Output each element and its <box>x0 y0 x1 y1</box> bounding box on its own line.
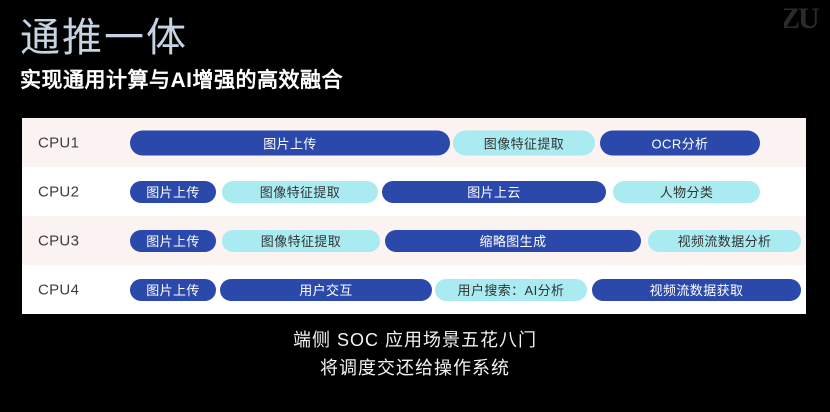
page-subtitle: 实现通用计算与AI增强的高效融合 <box>20 68 343 94</box>
task-bar[interactable]: 视频流数据获取 <box>592 279 801 301</box>
task-bar[interactable]: 图像特征提取 <box>222 230 380 252</box>
cpu-row: CPU4图片上传用户交互用户搜索：AI分析视频流数据获取 <box>22 265 806 314</box>
task-bar[interactable]: 缩略图生成 <box>385 230 641 252</box>
task-bar[interactable]: 图片上传 <box>130 130 450 155</box>
caption-block: 端侧 SOC 应用场景五花八门将调度交还给操作系统 <box>0 326 830 382</box>
corner-watermark: ZU <box>784 2 830 36</box>
page-title: 通推一体 <box>20 14 343 62</box>
cpu-row-track: 图片上传用户交互用户搜索：AI分析视频流数据获取 <box>22 265 806 314</box>
task-bar[interactable]: 视频流数据分析 <box>648 230 801 252</box>
cpu-row: CPU2图片上传图像特征提取图片上云人物分类 <box>22 167 806 216</box>
cpu-row: CPU3图片上传图像特征提取缩略图生成视频流数据分析 <box>22 216 806 265</box>
cpu-schedule-diagram: CPU1图片上传图像特征提取OCR分析CPU2图片上传图像特征提取图片上云人物分… <box>22 118 806 314</box>
task-bar[interactable]: 图片上云 <box>382 181 606 203</box>
task-bar[interactable]: 用户交互 <box>220 279 432 301</box>
watermark-text: ZU <box>784 2 826 36</box>
caption-line: 端侧 SOC 应用场景五花八门 <box>0 326 830 354</box>
task-bar[interactable]: 用户搜索：AI分析 <box>435 279 587 301</box>
heading-block: 通推一体 实现通用计算与AI增强的高效融合 <box>20 14 343 94</box>
cpu-row: CPU1图片上传图像特征提取OCR分析 <box>22 118 806 167</box>
task-bar[interactable]: OCR分析 <box>600 130 760 155</box>
task-bar[interactable]: 图像特征提取 <box>453 130 595 155</box>
caption-line: 将调度交还给操作系统 <box>0 354 830 382</box>
task-bar[interactable]: 图片上传 <box>130 181 216 203</box>
task-bar[interactable]: 人物分类 <box>613 181 760 203</box>
task-bar[interactable]: 图片上传 <box>130 230 216 252</box>
cpu-row-track: 图片上传图像特征提取图片上云人物分类 <box>22 167 806 216</box>
cpu-row-track: 图片上传图像特征提取缩略图生成视频流数据分析 <box>22 216 806 265</box>
task-bar[interactable]: 图像特征提取 <box>222 181 378 203</box>
cpu-row-track: 图片上传图像特征提取OCR分析 <box>22 118 806 167</box>
task-bar[interactable]: 图片上传 <box>130 279 216 301</box>
